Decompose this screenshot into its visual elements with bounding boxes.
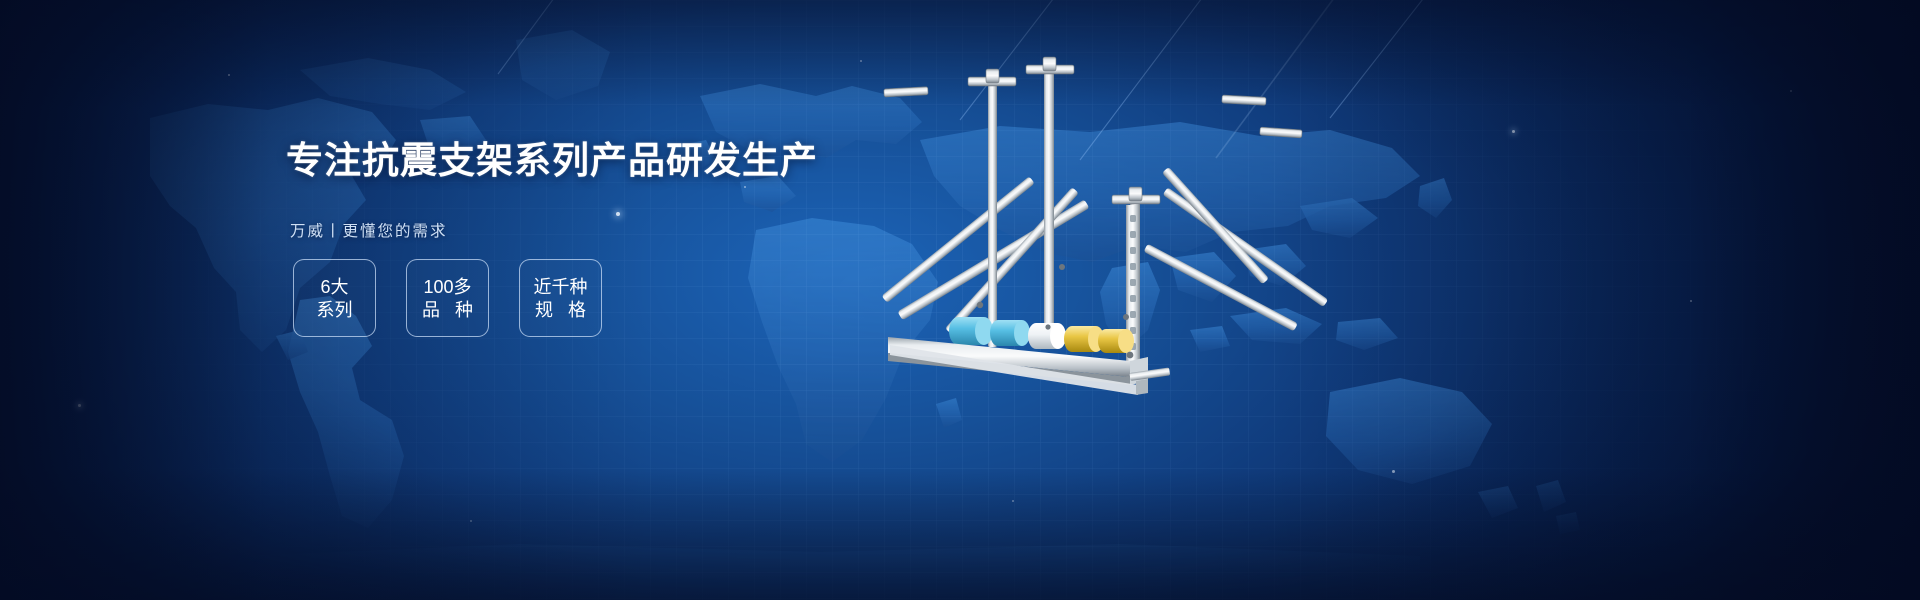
banner-copy: 专注抗震支架系列产品研发生产 万威丨更懂您的需求 [286, 140, 846, 241]
product-image-seismic-bracing [830, 55, 1350, 415]
badge-group: 6大 系列 100多 品 种 近千种 规 格 [293, 259, 602, 337]
badge-series-line2: 系列 [317, 301, 353, 319]
badge-varieties-line1: 100多 [423, 278, 471, 296]
banner-headline: 专注抗震支架系列产品研发生产 [286, 140, 846, 183]
banner-subline: 万威丨更懂您的需求 [290, 219, 846, 241]
hero-banner: 专注抗震支架系列产品研发生产 万威丨更懂您的需求 6大 系列 100多 品 种 … [0, 0, 1920, 600]
badge-series[interactable]: 6大 系列 [293, 259, 376, 337]
badge-varieties[interactable]: 100多 品 种 [406, 259, 489, 337]
badge-specifications-line2: 规 格 [535, 301, 591, 319]
badge-specifications-line1: 近千种 [534, 278, 588, 296]
badge-series-line1: 6大 [320, 278, 348, 296]
badge-varieties-line2: 品 种 [422, 301, 478, 319]
badge-specifications[interactable]: 近千种 规 格 [519, 259, 602, 337]
